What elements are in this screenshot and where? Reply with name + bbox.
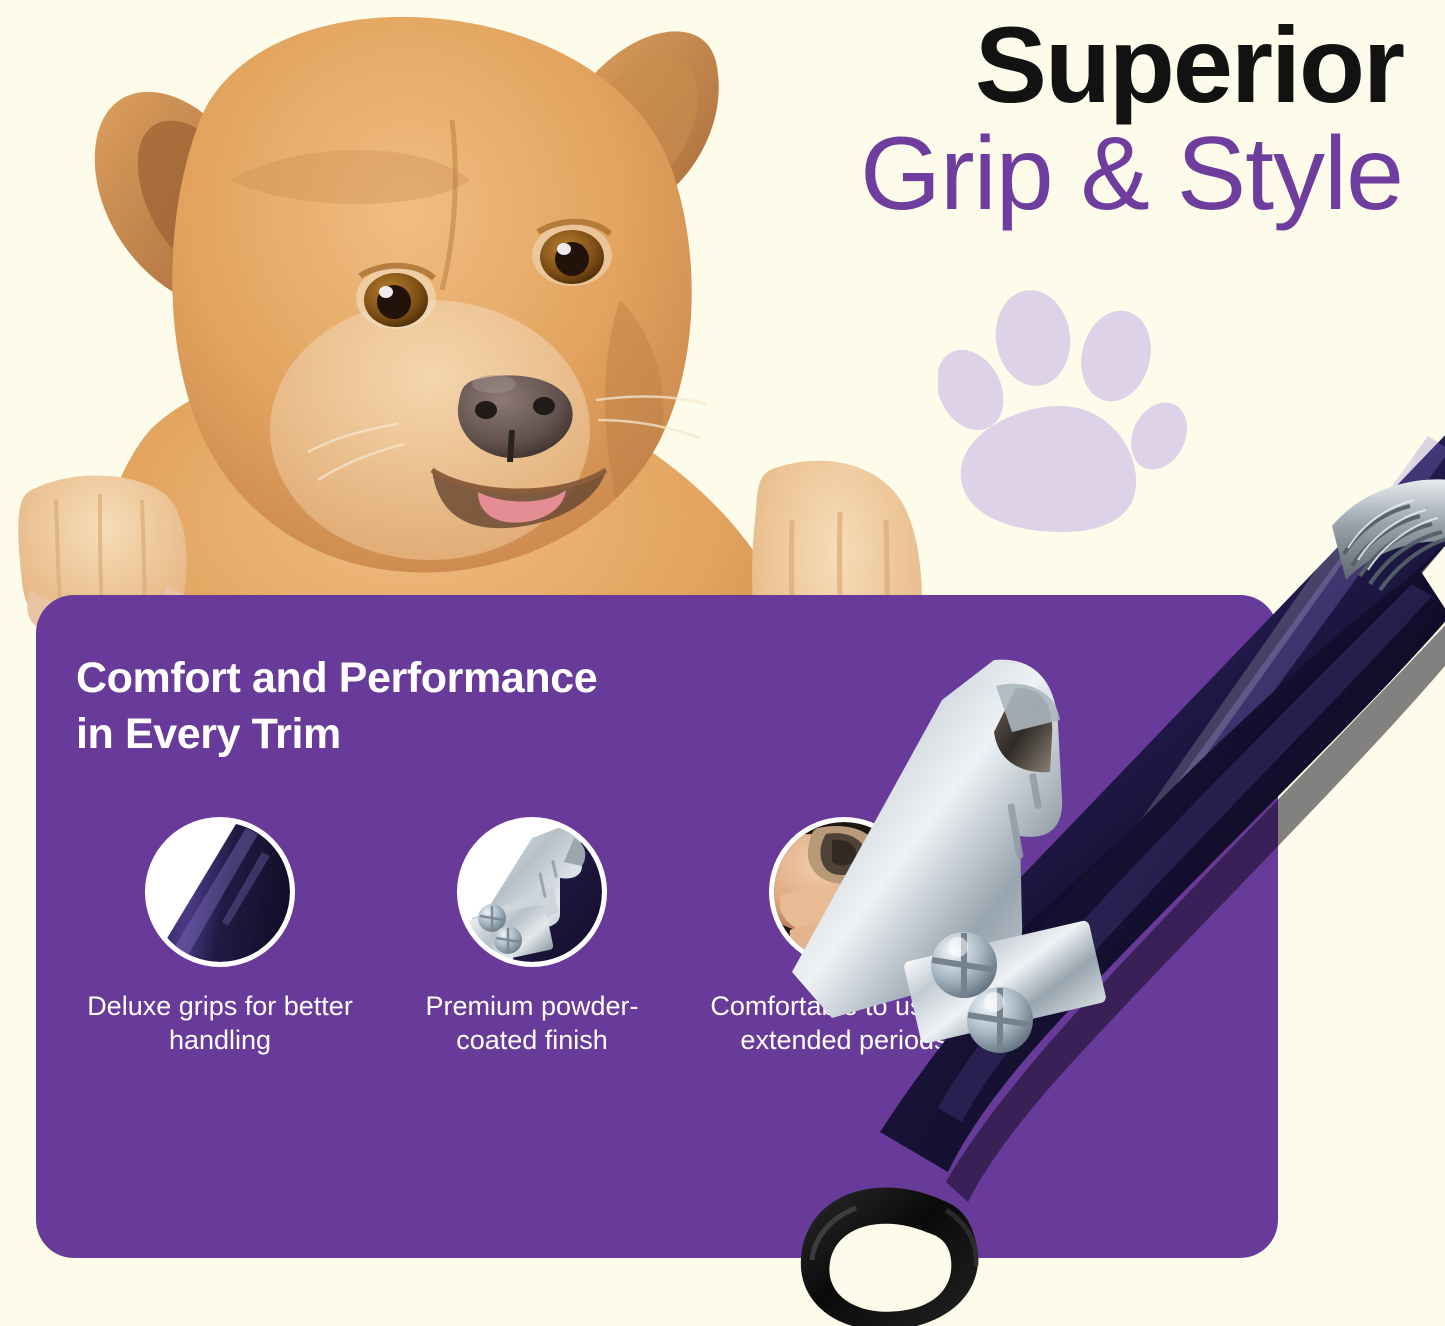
- clipper-handle-closeup-icon: [150, 822, 290, 962]
- feature-image-powder-coated: [457, 817, 607, 967]
- feature-card: Comfort and Performance in Every Trim: [36, 595, 1278, 1258]
- headline-primary: Superior: [703, 8, 1403, 122]
- card-title-line1: Comfort and Performance: [76, 651, 836, 707]
- feature-item-powder-coated: Premium powder-coated finish: [376, 817, 688, 1057]
- promo-image-canvas: Superior Grip & Style: [0, 0, 1445, 1326]
- dog-nose: [458, 375, 573, 462]
- headline-block: Superior Grip & Style: [703, 8, 1403, 233]
- dog-left-eye: [356, 266, 436, 329]
- card-title: Comfort and Performance in Every Trim: [76, 651, 836, 763]
- paw-print-icon: [938, 278, 1188, 533]
- headline-secondary: Grip & Style: [703, 116, 1403, 232]
- feature-caption-deluxe-grips: Deluxe grips for better handling: [85, 989, 355, 1057]
- clipper-spring: [1332, 479, 1445, 590]
- dog-right-eye: [532, 222, 612, 286]
- feature-item-deluxe-grips: Deluxe grips for better handling: [64, 817, 376, 1057]
- card-title-line2: in Every Trim: [76, 707, 836, 763]
- feature-caption-extended-use: Comfortable to use for extended periods: [709, 989, 979, 1057]
- trimming-paw-photo-icon: [774, 822, 914, 962]
- feature-image-extended-use: [769, 817, 919, 967]
- feature-caption-powder-coated: Premium powder-coated finish: [397, 989, 667, 1057]
- feature-list: Deluxe grips for better handling: [64, 817, 1064, 1057]
- clipper-blade-head-icon: [462, 822, 602, 962]
- feature-item-extended-use: Comfortable to use for extended periods: [688, 817, 1000, 1057]
- feature-image-deluxe-grips: [145, 817, 295, 967]
- dog-mouth: [432, 470, 606, 528]
